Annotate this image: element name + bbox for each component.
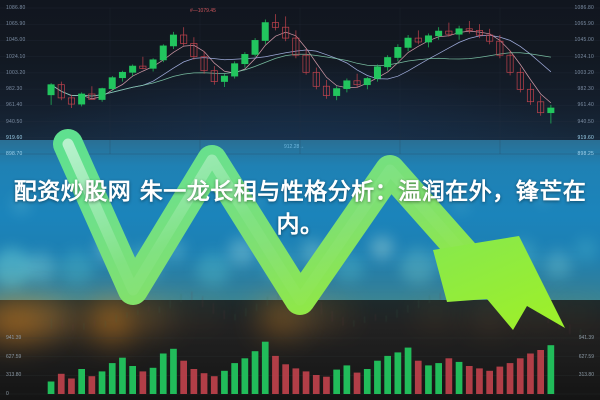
headline-text: 配资炒股网 朱一龙长相与性格分析：温润在外，锋芒在内。	[14, 179, 587, 238]
arrow-head	[433, 236, 565, 330]
page-headline: 配资炒股网 朱一龙长相与性格分析：温润在外，锋芒在内。	[0, 176, 600, 242]
screenshot-canvas: 1086.801065.901045.001024.101003.20982.3…	[0, 0, 600, 400]
